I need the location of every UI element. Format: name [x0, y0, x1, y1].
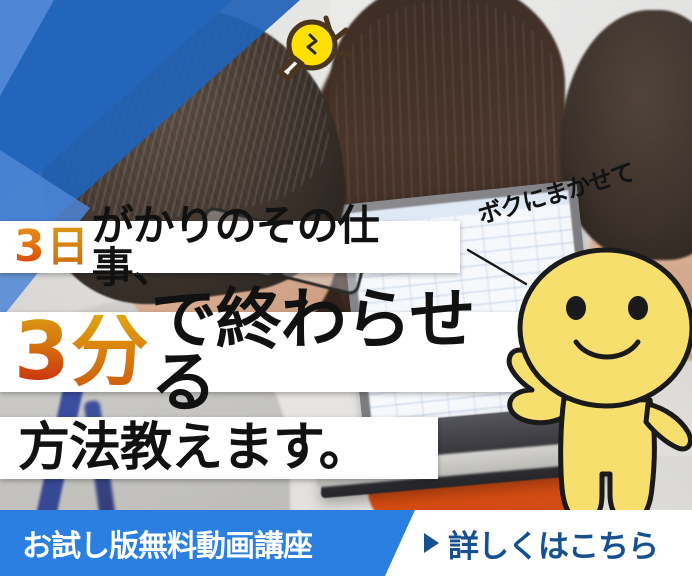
headline-2-unit: 分 [71, 315, 149, 389]
headline-line-1: 3 日 がかりのその仕事、 [0, 221, 460, 273]
headline-line-2: 3 分 で終わらせる [0, 312, 532, 392]
cta-bar: お試し版無料動画講座 詳しくはこちら [0, 510, 692, 576]
lightbulb-icon [258, 8, 358, 94]
headline-3-text: 方法教えます。 [18, 422, 370, 474]
free-trial-badge[interactable]: お試し版無料動画講座 [0, 510, 415, 576]
yellow-mascot-character [498, 238, 692, 528]
ad-banner: 3 日 がかりのその仕事、 3 分 で終わらせる 方法教えます。 ボクにまかせて [0, 0, 692, 576]
headline-1-number: 3 [14, 225, 45, 269]
headline-1-unit: 日 [47, 226, 89, 268]
headline-2-number: 3 [14, 314, 70, 390]
headline-2-rest: で終わらせる [151, 289, 532, 414]
details-link-label: 詳しくはこちら [448, 521, 658, 566]
play-triangle-icon [424, 533, 439, 553]
free-trial-badge-label: お試し版無料動画講座 [0, 521, 312, 565]
headline-line-3: 方法教えます。 [0, 417, 438, 479]
headline-1-rest: がかりのその仕事、 [92, 205, 460, 289]
details-link[interactable]: 詳しくはこちら [424, 510, 658, 576]
